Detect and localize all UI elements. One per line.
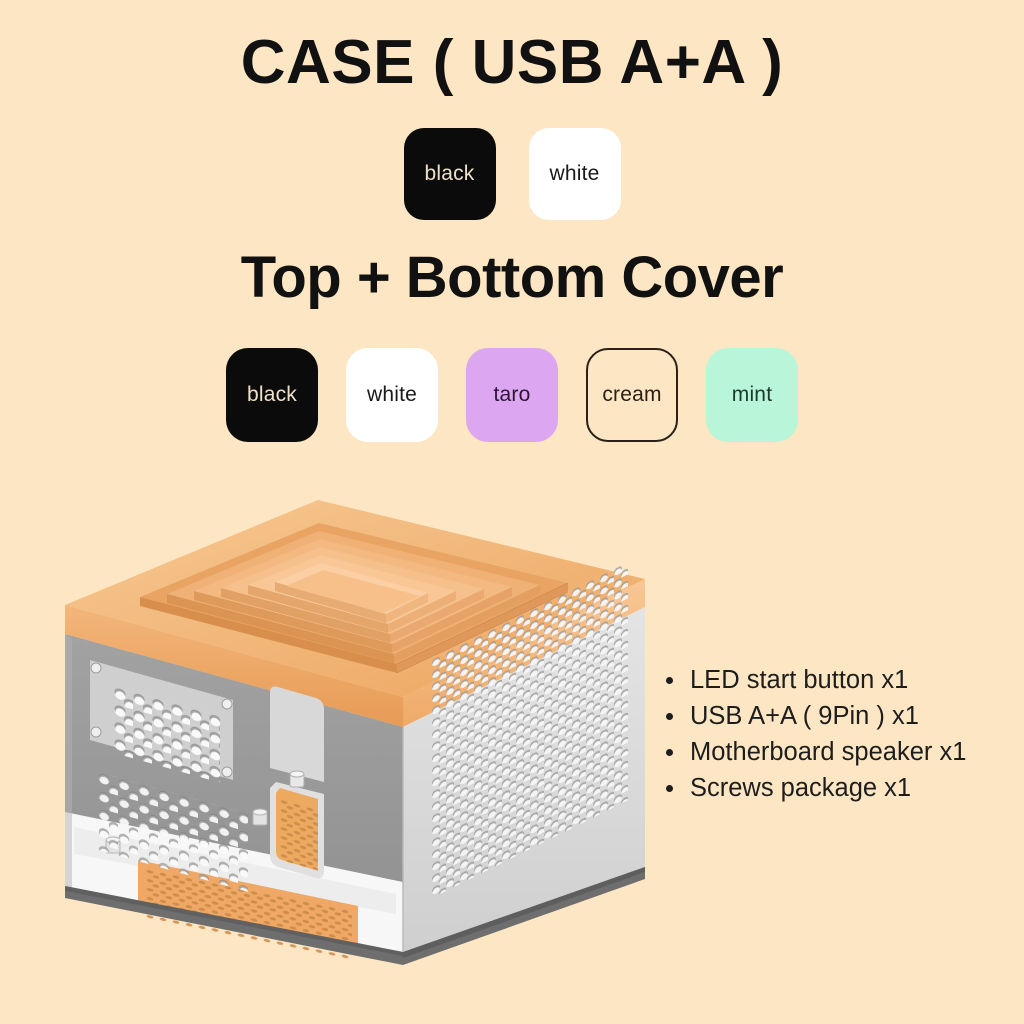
swatch-cover-black[interactable]: black xyxy=(226,348,318,442)
swatch-case-white[interactable]: white xyxy=(529,128,621,220)
list-item: USB A+A ( 9Pin ) x1 xyxy=(662,698,966,734)
motherboard-standoff-icon xyxy=(253,809,267,825)
swatch-label: white xyxy=(367,383,417,407)
swatch-label: taro xyxy=(494,383,531,407)
cover-color-swatch-row: black white taro cream mint xyxy=(0,348,1024,442)
list-item-label: LED start button x1 xyxy=(690,666,908,694)
included-items-list: LED start button x1 USB A+A ( 9Pin ) x1 … xyxy=(662,662,966,806)
swatch-label: cream xyxy=(602,383,661,407)
list-item-label: Motherboard speaker x1 xyxy=(690,738,966,766)
swatch-label: black xyxy=(424,162,474,186)
product-render-image xyxy=(28,482,668,992)
swatch-label: white xyxy=(549,162,599,186)
swatch-cover-mint[interactable]: mint xyxy=(706,348,798,442)
page-title: CASE ( USB A+A ) xyxy=(0,30,1024,95)
list-item: Motherboard speaker x1 xyxy=(662,734,966,770)
list-item: Screws package x1 xyxy=(662,770,966,806)
swatch-case-black[interactable]: black xyxy=(404,128,496,220)
poster-canvas: CASE ( USB A+A ) black white Top + Botto… xyxy=(0,0,1024,1024)
list-item-label: Screws package x1 xyxy=(690,774,911,802)
swatch-cover-white[interactable]: white xyxy=(346,348,438,442)
swatch-cover-cream[interactable]: cream xyxy=(586,348,678,442)
case-color-swatch-row: black white xyxy=(0,128,1024,220)
swatch-cover-taro[interactable]: taro xyxy=(466,348,558,442)
swatch-label: black xyxy=(247,383,297,407)
section-title-top-bottom-cover: Top + Bottom Cover xyxy=(0,248,1024,309)
swatch-label: mint xyxy=(732,383,772,407)
list-item: LED start button x1 xyxy=(662,662,966,698)
list-item-label: USB A+A ( 9Pin ) x1 xyxy=(690,702,919,730)
